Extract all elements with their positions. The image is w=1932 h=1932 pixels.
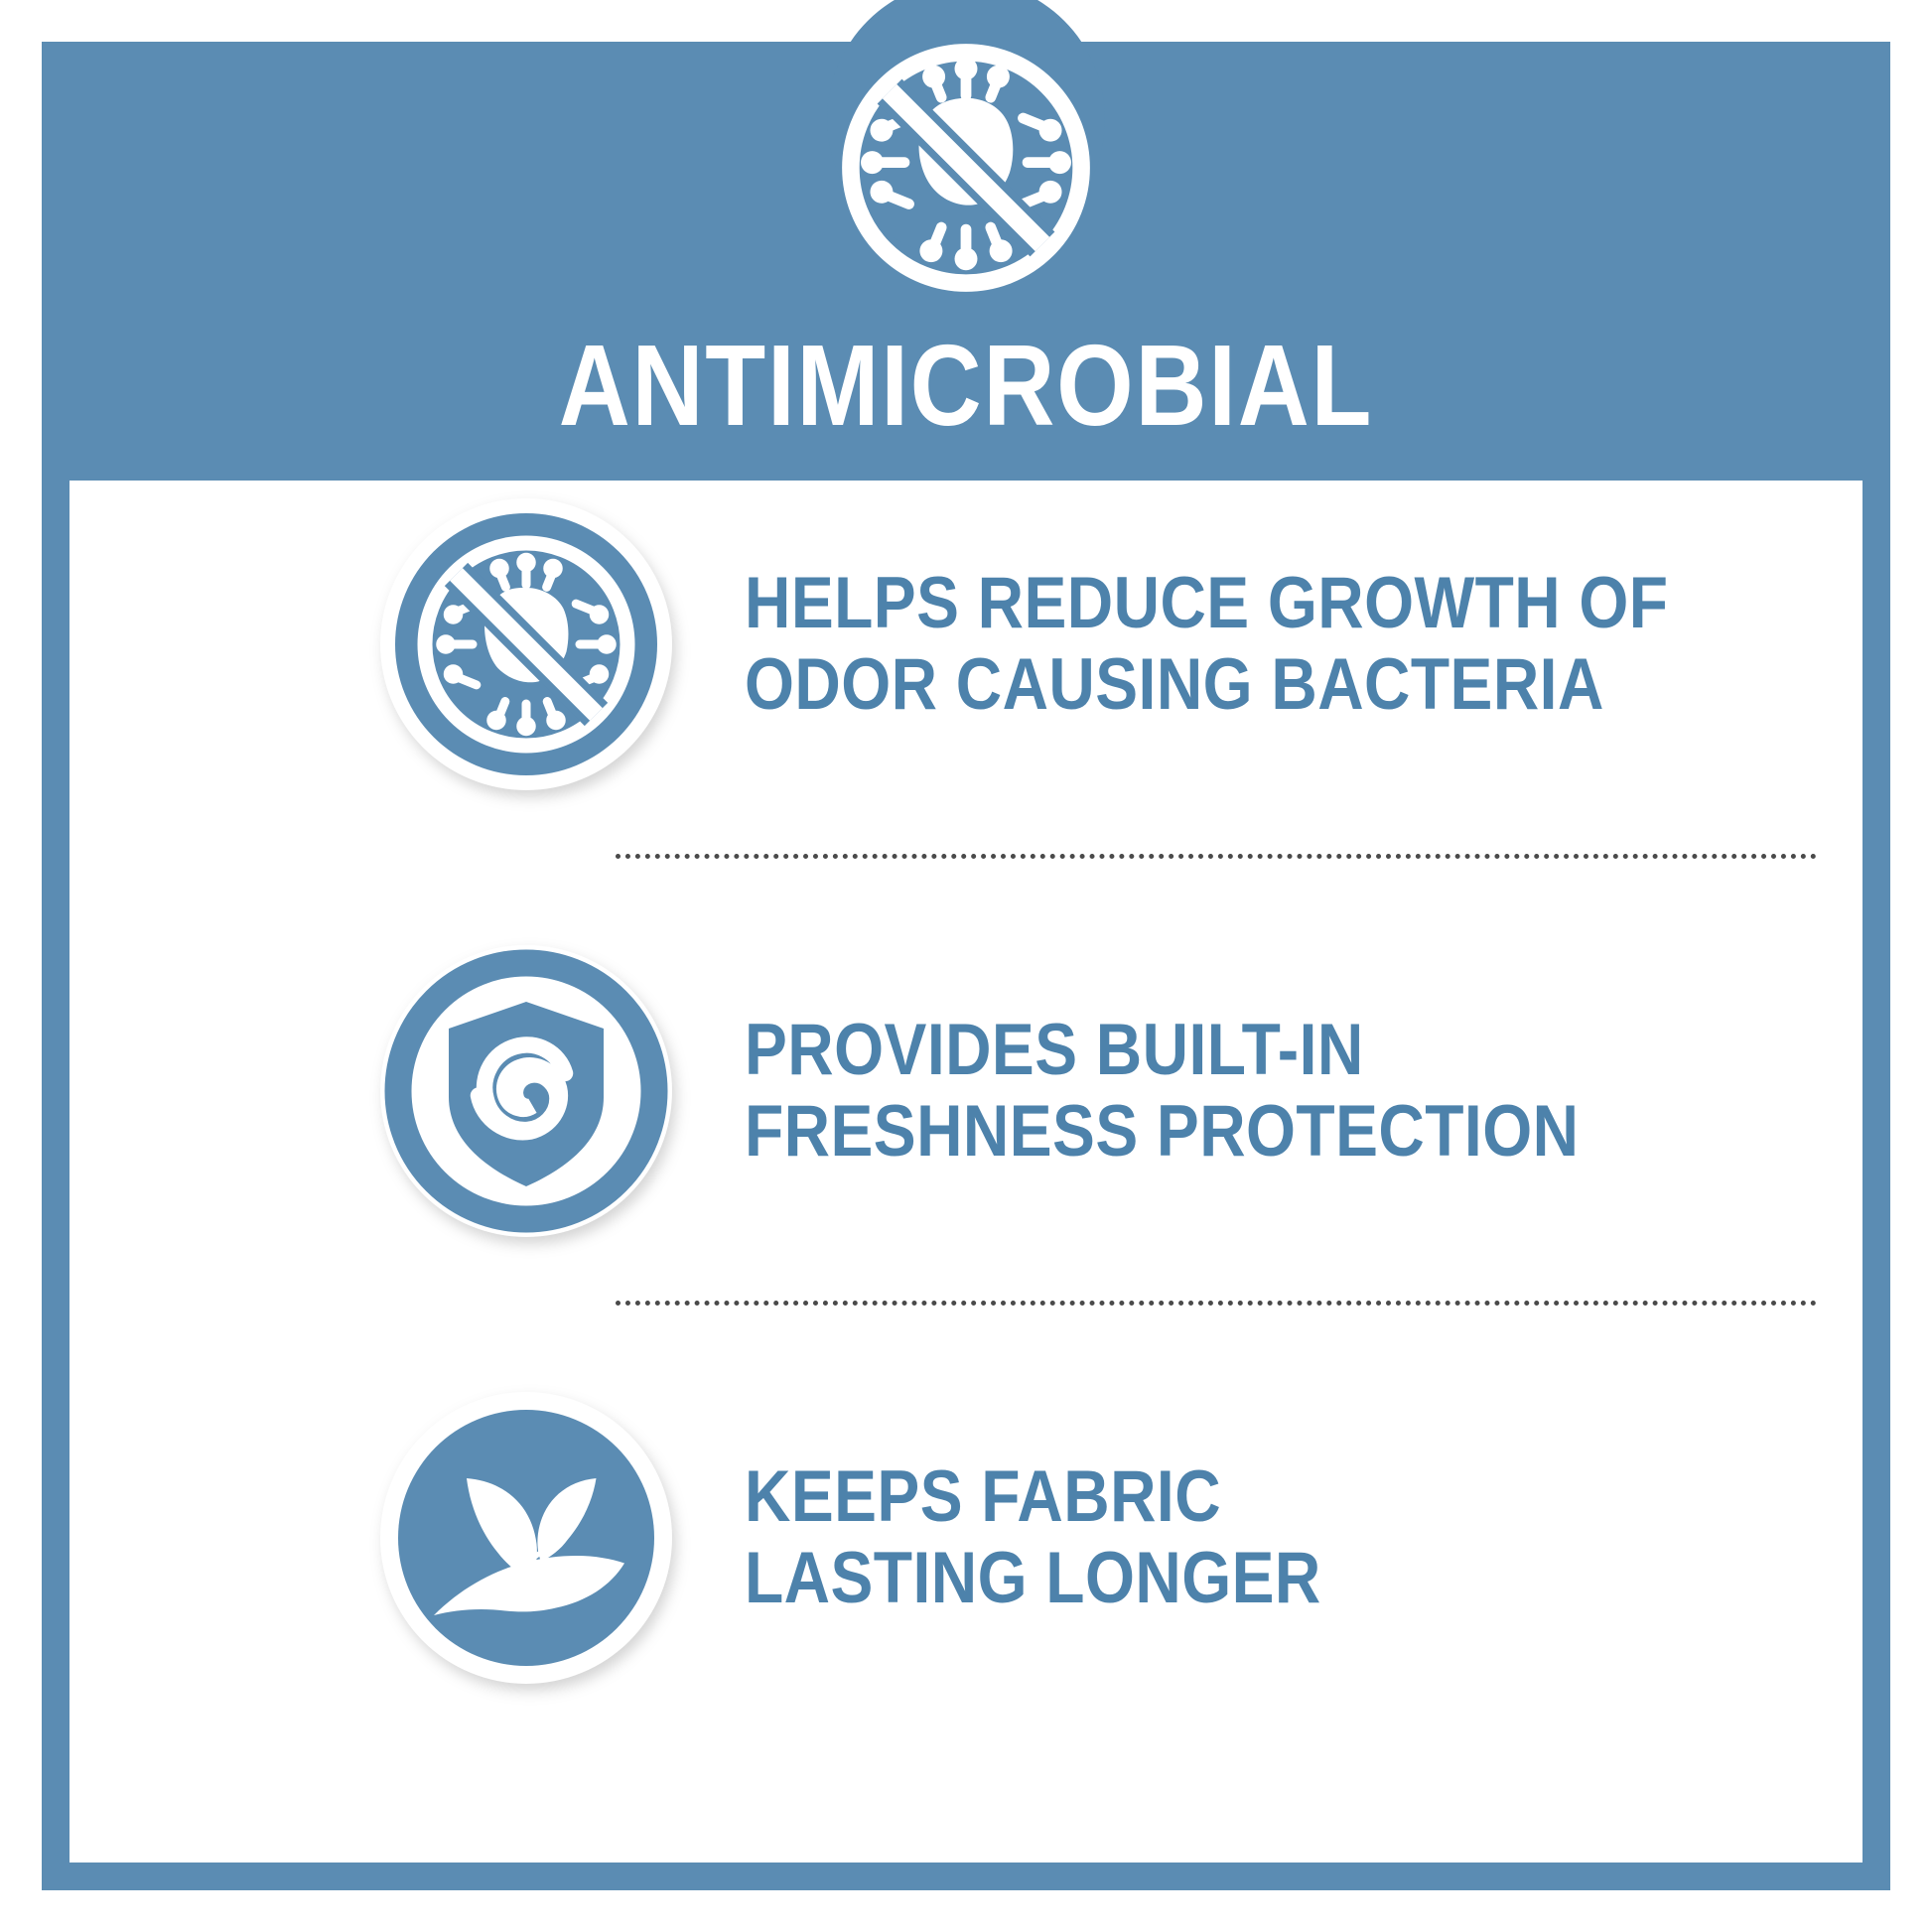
feature-label-line1: KEEPS FABRIC (745, 1456, 1584, 1538)
leaves-icon (377, 1389, 675, 1687)
feature-label-line1: HELPS REDUCE GROWTH OF (745, 563, 1668, 644)
feature-label: HELPS REDUCE GROWTH OF ODOR CAUSING BACT… (745, 563, 1668, 726)
feature-label-line2: ODOR CAUSING BACTERIA (745, 644, 1668, 726)
section-divider (616, 1301, 1817, 1306)
feature-item: PROVIDES BUILT-IN FRESHNESS PROTECTION (377, 927, 1698, 1255)
features-panel: HELPS REDUCE GROWTH OF ODOR CAUSING BACT… (69, 481, 1863, 1863)
header-banner: ANTIMICROBIAL (42, 42, 1890, 481)
feature-item: HELPS REDUCE GROWTH OF ODOR CAUSING BACT… (377, 481, 1698, 808)
feature-item: KEEPS FABRIC LASTING LONGER (377, 1374, 1698, 1702)
feature-label: KEEPS FABRIC LASTING LONGER (745, 1456, 1584, 1619)
feature-label: PROVIDES BUILT-IN FRESHNESS PROTECTION (745, 1010, 1584, 1173)
shield-swirl-icon (377, 942, 675, 1240)
section-divider (616, 854, 1817, 859)
no-virus-icon (377, 495, 675, 793)
no-virus-icon (832, 34, 1100, 302)
feature-label-line2: LASTING LONGER (745, 1538, 1584, 1619)
page-title: ANTIMICROBIAL (559, 328, 1373, 443)
feature-label-line2: FRESHNESS PROTECTION (745, 1091, 1584, 1173)
feature-label-line1: PROVIDES BUILT-IN (745, 1010, 1584, 1091)
antimicrobial-infographic: ANTIMICROBIAL (0, 0, 1932, 1932)
